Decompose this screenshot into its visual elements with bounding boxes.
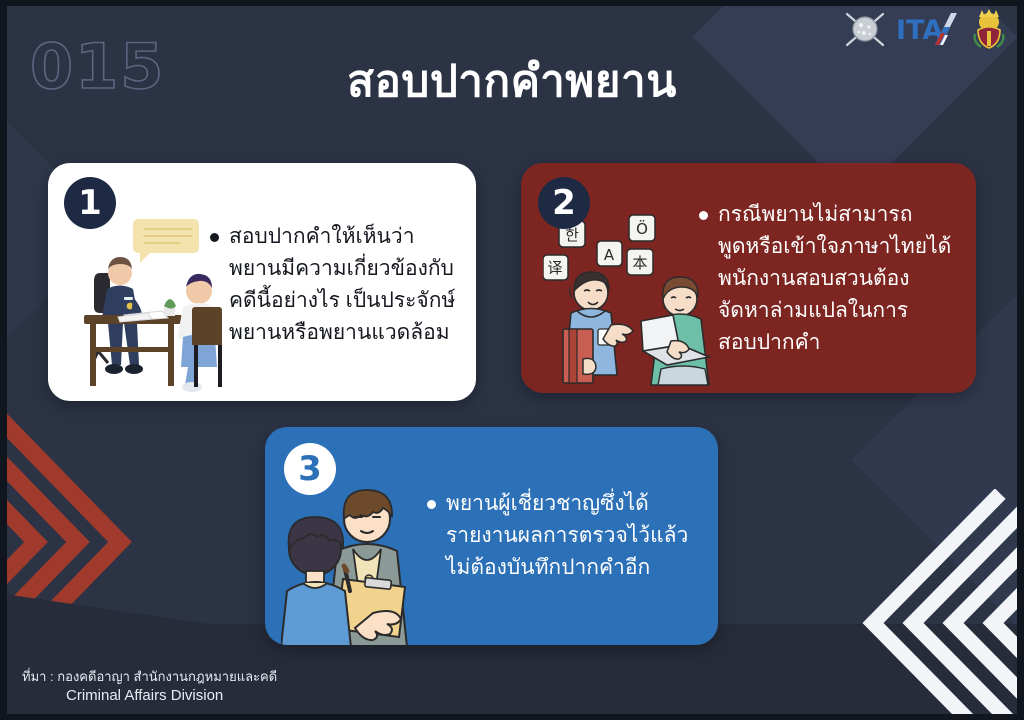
sword-globe-emblem-icon <box>842 8 888 50</box>
svg-text:ITA: ITA <box>896 15 943 46</box>
card-1-body: สอบปากคำให้เห็นว่า พยานมีความเกี่ยวข้องก… <box>210 221 455 349</box>
card-3-bullet <box>427 500 436 509</box>
page-title: สอบปากคำพยาน <box>0 46 1024 116</box>
footer-source-th: ที่มา : กองคดีอาญา สำนักงานกฎหมายและคดี <box>22 668 277 686</box>
footer: ที่มา : กองคดีอาญา สำนักงานกฎหมายและคดี … <box>22 668 277 706</box>
edge-bottom <box>0 714 1024 720</box>
svg-text:Ö: Ö <box>636 219 648 238</box>
svg-text:A: A <box>604 246 615 264</box>
ita-logo-icon: ITA <box>895 9 965 49</box>
footer-source-en: Criminal Affairs Division <box>22 686 277 706</box>
svg-text:本: 本 <box>632 254 647 272</box>
interpreter-translation-illustration: 한 译 A Ö 本 <box>543 201 715 391</box>
svg-text:译: 译 <box>547 259 562 277</box>
edge-right <box>1017 0 1024 720</box>
card-3-number-badge: 3 <box>284 443 336 495</box>
card-3-text: พยานผู้เชี่ยวชาญซึ่งได้ รายงานผลการตรวจไ… <box>446 488 688 584</box>
royal-crest-emblem-icon <box>972 8 1006 50</box>
card-1-bullet <box>210 233 219 242</box>
card-2-bullet <box>699 211 708 220</box>
card-2-number-badge: 2 <box>538 177 590 229</box>
card-1-number-badge: 1 <box>64 177 116 229</box>
card-3[interactable]: 3 <box>265 427 718 645</box>
card-1[interactable]: 1 <box>48 163 476 401</box>
interview-at-desk-illustration <box>84 211 222 398</box>
card-1-text: สอบปากคำให้เห็นว่า พยานมีความเกี่ยวข้องก… <box>229 221 455 349</box>
card-3-body: พยานผู้เชี่ยวชาญซึ่งได้ รายงานผลการตรวจไ… <box>427 488 688 584</box>
slide-canvas: 015 สอบปากคำพยาน ITA <box>0 0 1024 720</box>
edge-left <box>0 0 7 720</box>
card-2[interactable]: 2 한 译 A Ö 本 <box>521 163 976 393</box>
card-2-text: กรณีพยานไม่สามารถ พูดหรือเข้าใจภาษาไทยได… <box>718 199 951 359</box>
chevron-left-group-icon <box>835 489 1024 720</box>
card-2-body: กรณีพยานไม่สามารถ พูดหรือเข้าใจภาษาไทยได… <box>699 199 951 359</box>
logo-strip: ITA <box>842 8 1006 50</box>
edge-top <box>0 0 1024 6</box>
